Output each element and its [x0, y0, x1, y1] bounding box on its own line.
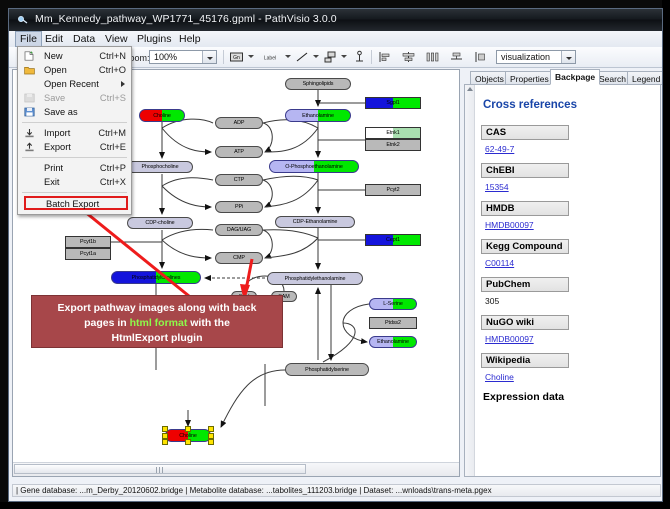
file-menu-item-label: Exit [44, 175, 60, 189]
metabolite-label: Ethanolamine [377, 339, 409, 345]
menu-help[interactable]: Help [175, 32, 205, 46]
metabolite-node[interactable]: CDP-Ethanolamine [275, 216, 355, 228]
gene-label: Pcyt2 [387, 187, 400, 193]
xref-db-label: Wikipedia [481, 353, 569, 368]
batch-export-menu-item[interactable]: Batch Export [24, 196, 128, 210]
submenu-arrow-icon [121, 81, 125, 87]
file-menu-separator [22, 122, 127, 123]
menu-file[interactable]: File [15, 31, 42, 47]
annotation-callout: Export pathway images along with back pa… [31, 295, 283, 348]
file-menu-item-import[interactable]: ImportCtrl+M [18, 126, 131, 140]
file-menu-item-accelerator: Ctrl+N [99, 49, 126, 63]
file-menu-item-export[interactable]: ExportCtrl+E [18, 140, 131, 154]
file-menu-item-accelerator: Ctrl+P [100, 161, 126, 175]
window-title: Mm_Kennedy_pathway_WP1771_45176.gpml - P… [35, 13, 337, 25]
metabolite-node[interactable]: CMP [215, 252, 263, 264]
gene-node[interactable]: Pcyt1b [65, 236, 111, 248]
metabolite-node[interactable]: DAG/UAG [215, 224, 263, 236]
file-menu-item-open[interactable]: OpenCtrl+O [18, 63, 131, 77]
metabolite-node[interactable]: ATP [215, 146, 263, 158]
datanode-icon[interactable]: Gn [229, 50, 244, 64]
file-menu-item-accelerator: Ctrl+O [99, 63, 126, 77]
xref-db-label: ChEBI [481, 163, 569, 178]
metabolite-node[interactable]: PPi [215, 201, 263, 213]
xref-value[interactable]: 15354 [485, 182, 654, 192]
tab-objects[interactable]: Objects [470, 71, 509, 85]
menu-plugins[interactable]: Plugins [133, 32, 175, 46]
metabolite-label: L-Serine [383, 301, 403, 307]
xref-link[interactable]: HMDB00097 [485, 220, 534, 230]
file-menu-item-label: Open [44, 63, 67, 77]
file-menu-item-label: Open Recent [44, 77, 99, 91]
xref-link[interactable]: HMDB00097 [485, 334, 534, 344]
canvas-hscrollbar[interactable] [13, 462, 459, 476]
selection-handle[interactable] [162, 439, 168, 445]
gene-node[interactable]: Sgpl1 [365, 97, 421, 109]
pathvisio-app-icon [17, 14, 29, 26]
gene-node[interactable]: Cept1 [365, 234, 421, 246]
selection-handle[interactable] [162, 433, 168, 439]
label-icon[interactable]: Label [259, 50, 281, 64]
metabolite-label: CTP [234, 177, 244, 183]
align-left-icon[interactable] [377, 50, 392, 64]
file-menu-item-save-as[interactable]: Save as [18, 105, 131, 119]
gene-node[interactable]: Ptdss2 [369, 317, 417, 329]
anchor-icon[interactable] [352, 50, 367, 64]
xref-value[interactable]: HMDB00097 [485, 220, 654, 230]
file-menu-item-print[interactable]: PrintCtrl+P [18, 161, 131, 175]
import-icon [24, 128, 35, 138]
visualization-value: visualization [501, 52, 550, 62]
visualization-combo[interactable]: visualization [496, 50, 576, 64]
gene-node[interactable]: Pcyt1a [65, 248, 111, 260]
annotation-line1: Export pathway images along with back [58, 302, 257, 314]
zoom-combo[interactable]: 100% [149, 50, 217, 64]
metabolite-node[interactable]: Choline [139, 109, 185, 122]
zoom-value: 100% [154, 52, 177, 62]
file-menu-item-open-recent[interactable]: Open Recent [18, 77, 131, 91]
xref-db-label: CAS [481, 125, 569, 140]
metabolite-node[interactable]: Sphingolipids [285, 78, 351, 90]
metabolite-node[interactable]: Phosphatidylethanolamine [267, 272, 363, 285]
file-menu-item-exit[interactable]: ExitCtrl+X [18, 175, 131, 189]
save-as-icon [24, 107, 35, 117]
menu-data[interactable]: Data [69, 32, 99, 46]
tab-properties[interactable]: Properties [505, 71, 554, 85]
annotation-line2-pre: pages in [84, 317, 130, 329]
metabolite-node[interactable]: O-Phosphoethanolamine [269, 160, 359, 173]
shape-dropdown-arrow[interactable] [341, 55, 347, 58]
selection-handle[interactable] [208, 439, 214, 445]
metabolite-label: PPi [235, 204, 243, 210]
pathvisio-window: Mm_Kennedy_pathway_WP1771_45176.gpml - P… [8, 8, 663, 502]
file-menu-item-label: Save [44, 91, 65, 105]
open-folder-icon [24, 65, 35, 75]
metabolite-node[interactable]: CDP-choline [127, 217, 193, 229]
xref-value[interactable]: C00114 [485, 258, 654, 268]
metabolite-label: ATP [234, 149, 244, 155]
datanode-dropdown-arrow[interactable] [248, 55, 254, 58]
new-document-icon [24, 51, 35, 61]
xref-value[interactable]: 62-49-7 [485, 144, 654, 154]
xref-link[interactable]: 62-49-7 [485, 144, 514, 154]
gene-label: Cept1 [386, 237, 400, 243]
xref-db-label: Kegg Compound [481, 239, 569, 254]
metabolite-node[interactable]: L-Serine [369, 298, 417, 310]
selection-handle[interactable] [162, 426, 168, 432]
selection-handle[interactable] [185, 439, 191, 445]
xref-value[interactable]: HMDB00097 [485, 334, 654, 344]
line-icon[interactable] [295, 50, 310, 64]
gene-label: Pcyt1b [80, 239, 96, 245]
metabolite-label: Ethanolamine [302, 113, 334, 119]
metabolite-label: CDP-choline [145, 220, 174, 226]
backpage-scrollbar[interactable] [465, 85, 475, 476]
metabolite-label: Phosphatidylserine [305, 367, 349, 373]
selection-handle[interactable] [208, 426, 214, 432]
file-menu-item-accelerator: Ctrl+X [100, 175, 126, 189]
file-menu-separator [22, 157, 127, 158]
metabolite-node[interactable]: ADP [215, 117, 263, 129]
annotation-line3: HtmlExport plugin [112, 332, 203, 344]
metabolite-label: Phosphatidylethanolamine [285, 276, 346, 282]
zoom-combo-arrow[interactable] [202, 51, 216, 63]
xref-db-label: HMDB [481, 201, 569, 216]
metabolite-label: ADP [234, 120, 245, 126]
backpage-panel: Cross references CAS62-49-7ChEBI15354HMD… [464, 84, 661, 477]
shape-icon[interactable] [323, 50, 338, 64]
metabolite-node[interactable]: Phosphatidylserine [285, 363, 369, 376]
annotation-line2-post: with the [187, 317, 230, 329]
selection-handle[interactable] [185, 426, 191, 432]
metabolite-node[interactable]: CTP [215, 174, 263, 186]
metabolite-label: Choline [153, 113, 171, 119]
metabolite-label: Sphingolipids [303, 81, 334, 87]
xref-link[interactable]: C00114 [485, 258, 514, 268]
metabolite-label: CMP [233, 255, 245, 261]
metabolite-node[interactable]: Ethanolamine [369, 336, 417, 348]
metabolite-node[interactable]: Phosphocholine [127, 161, 193, 173]
xref-link[interactable]: 15354 [485, 182, 509, 192]
xref-db-label: PubChem [481, 277, 569, 292]
gene-label: Ptdss2 [385, 320, 401, 326]
xref-db-label: NuGO wiki [481, 315, 569, 330]
expression-data-title: Expression data [483, 391, 654, 403]
status-bar: | Gene database: ...m_Derby_20120602.bri… [12, 480, 661, 498]
file-menu-items: NewCtrl+NOpenCtrl+OOpen RecentSaveCtrl+S… [18, 49, 131, 189]
metabolite-node[interactable]: Ethanolamine [285, 109, 351, 122]
gene-label: Pcyt1a [80, 251, 96, 257]
save-disk-icon [24, 93, 35, 103]
gene-node[interactable]: Etnk1 [365, 127, 421, 139]
metabolite-label: Phosphatidylcholines [132, 275, 181, 281]
backpage-content: Cross references CAS62-49-7ChEBI15354HMD… [475, 85, 660, 476]
file-menu-item-label: Import [44, 126, 70, 140]
metabolite-node[interactable]: Phosphatidylcholines [111, 271, 201, 284]
file-menu-item-label: Save as [44, 105, 78, 119]
file-menu-item-label: Export [44, 140, 71, 154]
gene-node[interactable]: Etnk2 [365, 139, 421, 151]
label-dropdown-arrow[interactable] [285, 55, 291, 58]
export-icon [24, 142, 35, 152]
stack-icon[interactable] [449, 50, 464, 64]
menu-edit[interactable]: Edit [41, 32, 67, 46]
visualization-combo-arrow[interactable] [561, 51, 575, 63]
distribute-icon[interactable] [425, 50, 440, 64]
svg-text:Label: Label [264, 56, 276, 62]
file-menu-item-new[interactable]: NewCtrl+N [18, 49, 131, 63]
metabolite-label: DAG/UAG [227, 227, 251, 233]
file-menu-item-label: Print [44, 161, 63, 175]
cross-references-title: Cross references [483, 99, 654, 111]
status-bar-text: | Gene database: ...m_Derby_20120602.bri… [12, 484, 661, 497]
side-panel-tabs: Objects Properties Backpage Search Legen… [464, 69, 661, 85]
file-menu-item-accelerator: Ctrl+M [98, 126, 126, 140]
line-dropdown-arrow[interactable] [313, 55, 319, 58]
cross-reference-list: CAS62-49-7ChEBI15354HMDBHMDB00097Kegg Co… [481, 125, 654, 382]
canvas-hscroll-thumb[interactable] [14, 464, 306, 474]
batch-export-label: Batch Export [46, 198, 99, 211]
file-menu-item-accelerator: Ctrl+E [100, 140, 126, 154]
metabolite-label: O-Phosphoethanolamine [285, 164, 343, 170]
align-center-icon[interactable] [401, 50, 416, 64]
file-menu-item-label: New [44, 49, 63, 63]
file-menu-item-accelerator: Ctrl+S [100, 91, 126, 105]
file-menu-separator-bottom [22, 192, 127, 193]
metabolite-label: CDP-Ethanolamine [293, 219, 338, 225]
file-menu-item-save: SaveCtrl+S [18, 91, 131, 105]
gene-label: Etnk1 [386, 130, 399, 136]
menu-view[interactable]: View [101, 32, 132, 46]
screenshot-frame: Mm_Kennedy_pathway_WP1771_45176.gpml - P… [0, 0, 670, 509]
metabolite-label: Phosphocholine [142, 164, 179, 170]
annotation-highlight: html format [130, 317, 188, 329]
size-icon[interactable] [473, 50, 488, 64]
xref-value[interactable]: Choline [485, 372, 654, 382]
tab-legend[interactable]: Legend [627, 71, 663, 85]
xref-value: 305 [485, 296, 654, 306]
gene-label: Etnk2 [386, 142, 399, 148]
tab-backpage[interactable]: Backpage [550, 69, 600, 85]
svg-text:Gn: Gn [233, 55, 240, 61]
gene-label: Sgpl1 [386, 100, 399, 106]
metabolite-label: Choline [179, 433, 197, 439]
xref-link[interactable]: Choline [485, 372, 514, 382]
selection-handle[interactable] [208, 433, 214, 439]
side-panel: Objects Properties Backpage Search Legen… [464, 69, 661, 477]
gene-node[interactable]: Pcyt2 [365, 184, 421, 196]
title-bar: Mm_Kennedy_pathway_WP1771_45176.gpml - P… [9, 9, 662, 31]
file-menu-dropdown[interactable]: NewCtrl+NOpenCtrl+OOpen RecentSaveCtrl+S… [17, 46, 132, 215]
